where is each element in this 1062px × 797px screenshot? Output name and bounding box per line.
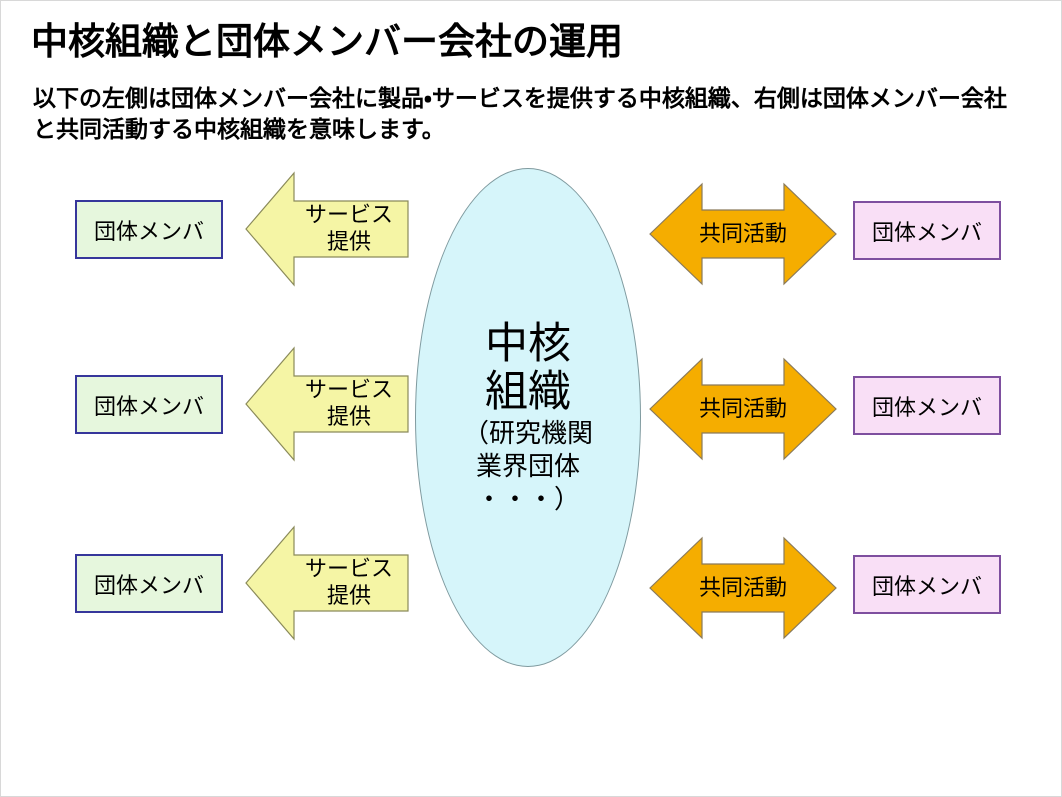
member-box-left-1[interactable]: 団体メンバ xyxy=(75,200,223,259)
member-box-right-2[interactable]: 団体メンバ xyxy=(853,376,1001,435)
member-box-right-1-label: 団体メンバ xyxy=(872,215,982,247)
member-box-right-1[interactable]: 団体メンバ xyxy=(853,201,1001,260)
core-title-line-1: 中核 xyxy=(485,320,571,368)
core-title-line-2: 組織 xyxy=(485,368,571,416)
core-detail-line-3: ・・・） xyxy=(476,484,580,515)
page-subtitle: 以下の左側は団体メンバー会社に製品・サービスを提供する中核組織、右側は団体メンバ… xyxy=(33,83,1028,145)
core-detail-line-2: 業界団体 xyxy=(476,451,580,482)
core-organization-ellipse: 中核 組織 （研究機関 業界団体 ・・・） xyxy=(415,168,641,667)
service-arrow-1[interactable]: サービス 提供 xyxy=(246,173,408,285)
service-arrow-3[interactable]: サービス 提供 xyxy=(246,527,408,639)
member-box-right-3[interactable]: 団体メンバ xyxy=(853,555,1001,614)
page-title: 中核組織と団体メンバー会社の運用 xyxy=(31,21,1031,64)
member-box-right-3-label: 団体メンバ xyxy=(872,569,982,601)
slide-canvas: 中核組織と団体メンバー会社の運用 以下の左側は団体メンバー会社に製品・サービスを… xyxy=(0,0,1062,797)
joint-activity-arrow-2[interactable]: 共同活動 xyxy=(650,359,836,459)
member-box-left-2[interactable]: 団体メンバ xyxy=(75,375,223,434)
joint-activity-arrow-3[interactable]: 共同活動 xyxy=(650,538,836,638)
core-detail-line-1: （研究機関 xyxy=(463,418,593,449)
member-box-left-3[interactable]: 団体メンバ xyxy=(75,554,223,613)
service-arrow-2[interactable]: サービス 提供 xyxy=(246,348,408,460)
member-box-right-2-label: 団体メンバ xyxy=(872,390,982,422)
member-box-left-2-label: 団体メンバ xyxy=(94,389,204,421)
member-box-left-3-label: 団体メンバ xyxy=(94,568,204,600)
joint-activity-arrow-1[interactable]: 共同活動 xyxy=(650,184,836,284)
member-box-left-1-label: 団体メンバ xyxy=(94,214,204,246)
